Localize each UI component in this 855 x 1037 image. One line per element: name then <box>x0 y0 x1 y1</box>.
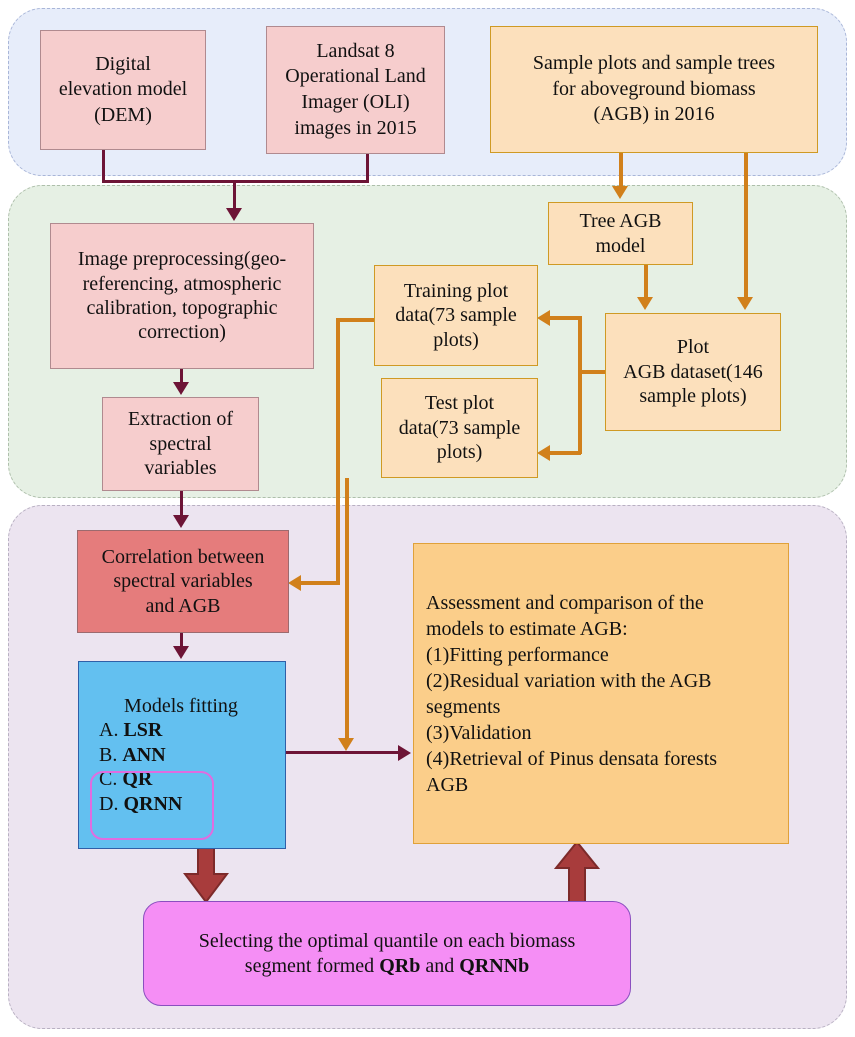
models-fitting-item-b: B. ANN <box>99 743 279 767</box>
node-treeagb-line-1: Tree AGB <box>579 210 661 232</box>
arrowhead-into-training <box>537 310 550 326</box>
arrowhead-into-treeagb <box>612 186 628 199</box>
node-sample-line-1: Sample plots and sample trees <box>533 52 775 74</box>
connector-treeagb-to-plotagb <box>644 265 648 299</box>
selecting-line-2-conjunction: and <box>420 955 459 977</box>
node-extraction-spectral-variables[interactable]: Extraction of spectral variables <box>102 397 259 491</box>
node-correlation-spectral-agb[interactable]: Correlation between spectral variables a… <box>77 530 289 633</box>
node-training-line-1: Training plot <box>404 280 508 302</box>
node-landsat-oli[interactable]: Landsat 8 Operational Land Imager (OLI) … <box>266 26 445 154</box>
arrowhead-test-to-assessment <box>338 738 354 751</box>
node-dem[interactable]: Digital elevation model (DEM) <box>40 30 206 150</box>
assessment-line-4: (2)Residual variation with the AGB <box>426 670 712 692</box>
node-landsat-line-4: images in 2015 <box>294 117 416 139</box>
connector-sample-to-plotagb <box>744 153 748 299</box>
node-dem-line-1: Digital <box>95 53 151 75</box>
models-item-c-name: QR <box>122 768 152 790</box>
arrowhead-into-correlation <box>173 515 189 528</box>
connector-training-to-correlation <box>300 581 340 585</box>
node-preprocessing-line-1: Image preprocessing(geo- <box>78 248 286 270</box>
arrowhead-into-test <box>537 445 550 461</box>
node-test-line-1: Test plot <box>425 392 494 414</box>
node-extraction-line-3: variables <box>144 457 216 479</box>
node-sample-line-3: (AGB) in 2016 <box>593 103 714 125</box>
node-models-fitting[interactable]: Models fitting A. LSR B. ANN C. QR D. QR… <box>78 661 286 849</box>
selecting-qrb-label: QRb <box>379 955 420 977</box>
connector-split-vertical <box>578 316 582 454</box>
models-fitting-item-a: A. LSR <box>99 718 279 742</box>
assessment-line-1: Assessment and comparison of the <box>426 592 704 614</box>
connector-training-left-stub <box>336 318 376 322</box>
models-item-d-name: QRNN <box>123 793 182 815</box>
node-sample-plots-trees[interactable]: Sample plots and sample trees for aboveg… <box>490 26 818 153</box>
arrowhead-into-plotagb-right <box>737 297 753 310</box>
node-landsat-line-2: Operational Land <box>285 65 426 87</box>
node-sample-line-2: for aboveground biomass <box>552 78 755 100</box>
connector-models-to-assessment <box>285 751 400 754</box>
models-item-c-letter: C. <box>99 768 117 790</box>
connector-test-down <box>345 478 349 744</box>
node-training-line-2: data(73 sample <box>395 304 517 326</box>
assessment-line-7: (4)Retrieval of Pinus densata forests <box>426 748 717 770</box>
node-selecting-optimal-quantile[interactable]: Selecting the optimal quantile on each b… <box>143 901 631 1006</box>
connector-plotagb-left-stub <box>578 370 608 374</box>
node-preprocessing-line-2: referencing, atmospheric <box>83 273 282 295</box>
models-item-b-name: ANN <box>122 744 165 766</box>
connector-training-down <box>336 318 340 584</box>
node-dem-line-3: (DEM) <box>94 104 152 126</box>
selecting-line-2-prefix: segment formed <box>245 955 379 977</box>
connector-split-to-training <box>548 316 581 320</box>
assessment-line-2: models to estimate AGB: <box>426 618 628 640</box>
node-test-line-2: data(73 sample <box>399 417 521 439</box>
node-dem-line-2: elevation model <box>59 78 187 100</box>
models-fitting-item-d: D. QRNN <box>99 792 279 816</box>
assessment-line-3: (1)Fitting performance <box>426 644 609 666</box>
arrowhead-into-assessment <box>398 745 411 761</box>
node-preprocessing-line-3: calibration, topographic <box>86 297 277 319</box>
models-item-b-letter: B. <box>99 744 117 766</box>
models-item-a-name: LSR <box>123 719 162 741</box>
thick-arrow-selecting-to-assessment <box>553 842 601 906</box>
node-extraction-line-2: spectral <box>149 433 211 455</box>
models-item-a-letter: A. <box>99 719 118 741</box>
arrowhead-into-preprocessing <box>226 208 242 221</box>
assessment-line-6: (3)Validation <box>426 722 532 744</box>
arrowhead-into-correlation-orange <box>288 575 301 591</box>
models-item-d-letter: D. <box>99 793 118 815</box>
node-assessment-comparison[interactable]: Assessment and comparison of the models … <box>413 543 789 844</box>
connector-split-to-test <box>548 451 581 455</box>
connector-landsat-down <box>366 154 369 182</box>
arrowhead-into-plotagb-left <box>637 297 653 310</box>
connector-extraction-to-correlation <box>180 491 183 518</box>
node-preprocessing-line-4: correction) <box>138 321 226 343</box>
node-extraction-line-1: Extraction of <box>128 408 233 430</box>
node-treeagb-line-2: model <box>596 235 646 257</box>
node-test-line-3: plots) <box>437 441 483 463</box>
node-correlation-line-1: Correlation between <box>102 546 265 568</box>
node-tree-agb-model[interactable]: Tree AGB model <box>548 202 693 265</box>
selecting-line-1: Selecting the optimal quantile on each b… <box>199 930 576 952</box>
assessment-line-8: AGB <box>426 774 468 796</box>
node-training-plot-data[interactable]: Training plot data(73 sample plots) <box>374 265 538 366</box>
node-plot-agb-dataset[interactable]: Plot AGB dataset(146 sample plots) <box>605 313 781 431</box>
node-image-preprocessing[interactable]: Image preprocessing(geo- referencing, at… <box>50 223 314 369</box>
node-correlation-line-2: spectral variables <box>113 570 252 592</box>
node-plotagb-line-3: sample plots) <box>639 385 746 407</box>
node-landsat-line-1: Landsat 8 <box>316 40 394 62</box>
arrowhead-into-extraction <box>173 382 189 395</box>
selecting-qrnnb-label: QRNNb <box>459 955 529 977</box>
arrowhead-into-models <box>173 646 189 659</box>
node-plotagb-line-1: Plot <box>677 336 709 358</box>
node-landsat-line-3: Imager (OLI) <box>301 91 409 113</box>
node-plotagb-line-2: AGB dataset(146 <box>623 361 762 383</box>
connector-sample-to-treeagb <box>619 153 623 188</box>
connector-junction-to-preprocessing <box>233 180 236 211</box>
connector-dem-down <box>102 150 105 182</box>
node-training-line-3: plots) <box>433 329 479 351</box>
models-fitting-title: Models fitting <box>99 694 279 718</box>
models-fitting-item-c: C. QR <box>99 767 279 791</box>
assessment-line-5: segments <box>426 696 500 718</box>
node-test-plot-data[interactable]: Test plot data(73 sample plots) <box>381 378 538 478</box>
flowchart-figure: Digital elevation model (DEM) Landsat 8 … <box>0 0 855 1037</box>
node-correlation-line-3: and AGB <box>146 595 221 617</box>
